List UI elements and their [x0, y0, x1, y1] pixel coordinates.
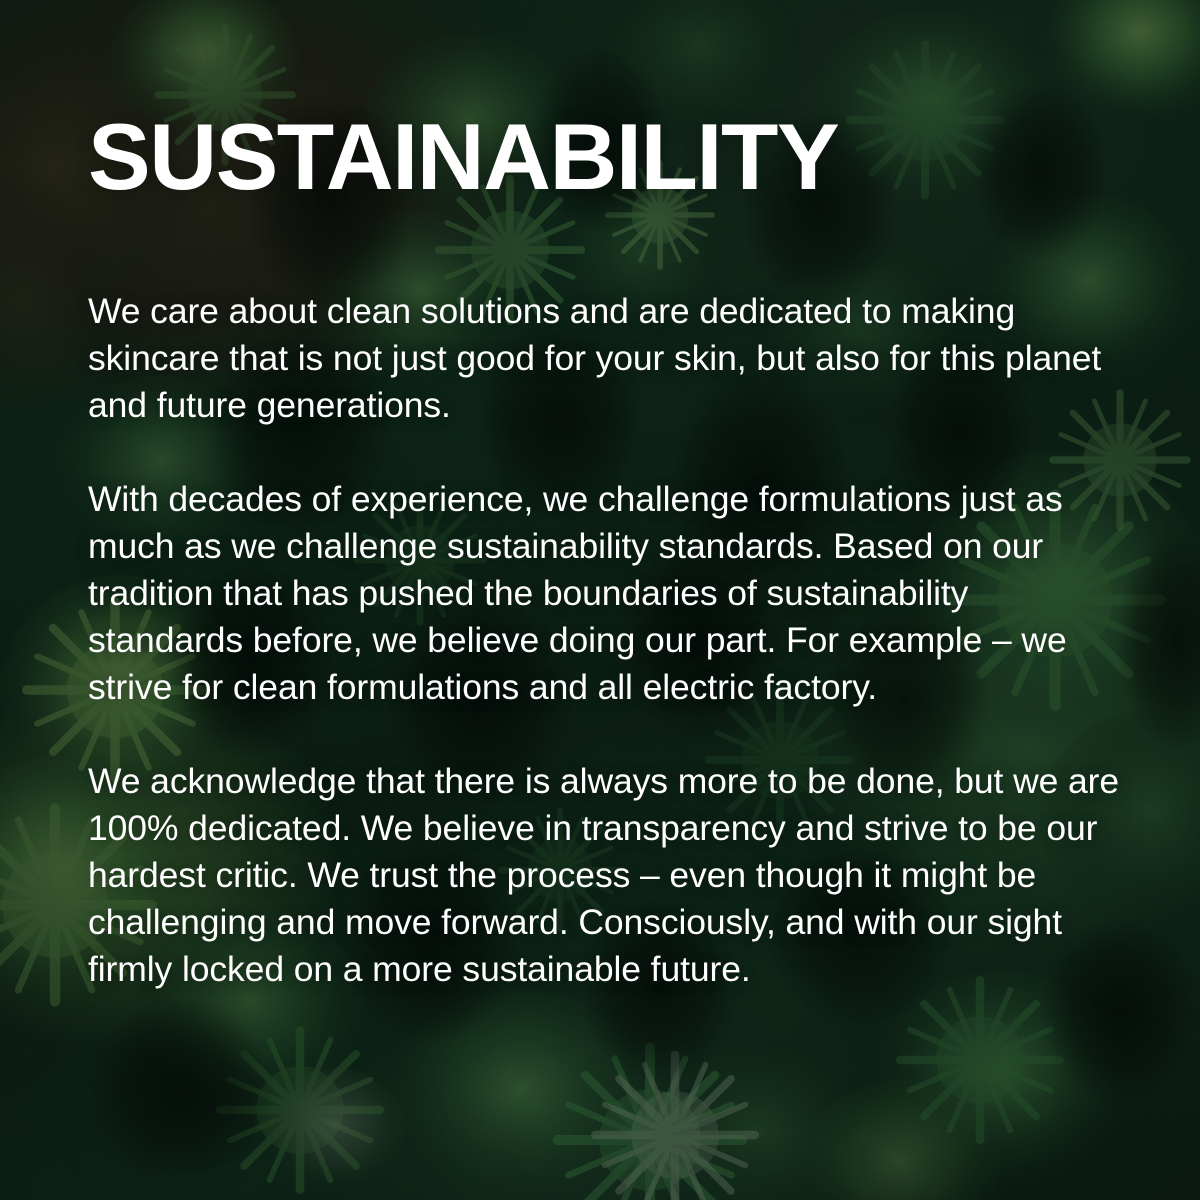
content-container: SUSTAINABILITY We care about clean solut…	[0, 0, 1200, 1200]
paragraph-acknowledge: We acknowledge that there is always more…	[88, 758, 1133, 993]
body-copy: We care about clean solutions and are de…	[88, 288, 1133, 993]
paragraph-intro: We care about clean solutions and are de…	[88, 288, 1133, 429]
sustainability-card: SUSTAINABILITY We care about clean solut…	[0, 0, 1200, 1200]
paragraph-experience: With decades of experience, we challenge…	[88, 476, 1133, 711]
page-title: SUSTAINABILITY	[88, 110, 838, 204]
